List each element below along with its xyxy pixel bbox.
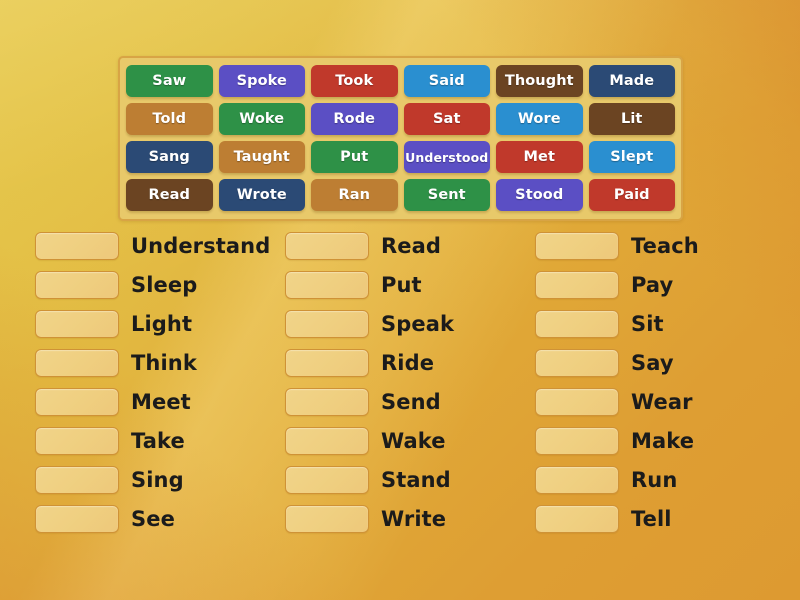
- drop-slot[interactable]: [35, 349, 119, 377]
- answer-label: Ride: [381, 351, 434, 375]
- word-tile[interactable]: Put: [311, 141, 398, 173]
- answer-label: Put: [381, 273, 422, 297]
- answer-row: See: [35, 499, 250, 538]
- drop-slot[interactable]: [285, 388, 369, 416]
- drop-slot[interactable]: [285, 505, 369, 533]
- word-tile[interactable]: Took: [311, 65, 398, 97]
- answer-label: Read: [381, 234, 441, 258]
- answer-row: Sing: [35, 460, 250, 499]
- answer-row: Send: [285, 382, 500, 421]
- drop-slot[interactable]: [535, 427, 619, 455]
- answer-label: Pay: [631, 273, 673, 297]
- drop-slot[interactable]: [535, 310, 619, 338]
- answer-row: Put: [285, 265, 500, 304]
- answer-label: Say: [631, 351, 674, 375]
- answer-row: Teach: [535, 226, 750, 265]
- drop-slot[interactable]: [285, 349, 369, 377]
- drop-slot[interactable]: [35, 427, 119, 455]
- drop-slot[interactable]: [285, 427, 369, 455]
- word-tile[interactable]: Made: [589, 65, 676, 97]
- word-tile[interactable]: Sent: [404, 179, 491, 211]
- word-tile[interactable]: Woke: [219, 103, 306, 135]
- word-tile[interactable]: Stood: [496, 179, 583, 211]
- drop-slot[interactable]: [285, 232, 369, 260]
- answer-row: Light: [35, 304, 250, 343]
- drop-slot[interactable]: [535, 349, 619, 377]
- word-tile[interactable]: Sat: [404, 103, 491, 135]
- drop-slot[interactable]: [535, 232, 619, 260]
- answer-label: Write: [381, 507, 446, 531]
- word-tile[interactable]: Lit: [589, 103, 676, 135]
- answer-row: Sleep: [35, 265, 250, 304]
- drop-slot[interactable]: [35, 271, 119, 299]
- answer-row: Say: [535, 343, 750, 382]
- answer-label: Run: [631, 468, 677, 492]
- drop-slot[interactable]: [35, 310, 119, 338]
- answer-row: Take: [35, 421, 250, 460]
- word-tile[interactable]: Paid: [589, 179, 676, 211]
- answer-label: Speak: [381, 312, 454, 336]
- answer-row: Speak: [285, 304, 500, 343]
- answer-label: Think: [131, 351, 197, 375]
- drop-slot[interactable]: [35, 466, 119, 494]
- word-tile[interactable]: Met: [496, 141, 583, 173]
- drop-slot[interactable]: [35, 388, 119, 416]
- drop-slot[interactable]: [535, 505, 619, 533]
- answer-label: Sit: [631, 312, 664, 336]
- word-tile[interactable]: Understood: [404, 141, 491, 173]
- word-tile[interactable]: Spoke: [219, 65, 306, 97]
- drop-slot[interactable]: [35, 505, 119, 533]
- word-tile[interactable]: Wrote: [219, 179, 306, 211]
- drop-slot[interactable]: [535, 466, 619, 494]
- answer-label: Wake: [381, 429, 446, 453]
- word-tile[interactable]: Rode: [311, 103, 398, 135]
- answer-label: Teach: [631, 234, 699, 258]
- answer-row: Tell: [535, 499, 750, 538]
- answer-label: Send: [381, 390, 441, 414]
- answer-row: Wear: [535, 382, 750, 421]
- answer-label: Sing: [131, 468, 184, 492]
- answer-row: Write: [285, 499, 500, 538]
- drop-slot[interactable]: [285, 466, 369, 494]
- answer-row: Run: [535, 460, 750, 499]
- tile-row: ReadWroteRanSentStoodPaid: [126, 179, 675, 211]
- word-tile[interactable]: Slept: [589, 141, 676, 173]
- answer-label: Tell: [631, 507, 672, 531]
- answer-row: Wake: [285, 421, 500, 460]
- answer-label: See: [131, 507, 175, 531]
- answer-column: ReadPutSpeakRideSendWakeStandWrite: [250, 226, 500, 538]
- word-tile[interactable]: Read: [126, 179, 213, 211]
- answer-label: Wear: [631, 390, 693, 414]
- word-tile[interactable]: Told: [126, 103, 213, 135]
- drop-slot[interactable]: [285, 310, 369, 338]
- answer-row: Read: [285, 226, 500, 265]
- tile-row: SangTaughtPutUnderstoodMetSlept: [126, 141, 675, 173]
- drop-slot[interactable]: [535, 388, 619, 416]
- answer-label: Stand: [381, 468, 451, 492]
- word-tile[interactable]: Thought: [496, 65, 583, 97]
- answer-row: Meet: [35, 382, 250, 421]
- drop-slot[interactable]: [35, 232, 119, 260]
- answer-label: Take: [131, 429, 185, 453]
- answer-row: Understand: [35, 226, 250, 265]
- answer-label: Light: [131, 312, 192, 336]
- tile-row: SawSpokeTookSaidThoughtMade: [126, 65, 675, 97]
- answer-columns-area: UnderstandSleepLightThinkMeetTakeSingSee…: [0, 226, 800, 538]
- word-tile[interactable]: Said: [404, 65, 491, 97]
- tile-row: ToldWokeRodeSatWoreLit: [126, 103, 675, 135]
- answer-label: Meet: [131, 390, 191, 414]
- answer-column: TeachPaySitSayWearMakeRunTell: [500, 226, 750, 538]
- word-tile[interactable]: Ran: [311, 179, 398, 211]
- word-tile[interactable]: Saw: [126, 65, 213, 97]
- word-tile[interactable]: Taught: [219, 141, 306, 173]
- word-tile[interactable]: Sang: [126, 141, 213, 173]
- answer-row: Ride: [285, 343, 500, 382]
- drop-slot[interactable]: [535, 271, 619, 299]
- answer-row: Sit: [535, 304, 750, 343]
- answer-row: Make: [535, 421, 750, 460]
- drop-slot[interactable]: [285, 271, 369, 299]
- answer-row: Think: [35, 343, 250, 382]
- answer-row: Stand: [285, 460, 500, 499]
- answer-row: Pay: [535, 265, 750, 304]
- answer-column: UnderstandSleepLightThinkMeetTakeSingSee: [0, 226, 250, 538]
- word-tile-bank: SawSpokeTookSaidThoughtMadeToldWokeRodeS…: [118, 56, 683, 221]
- answer-label: Sleep: [131, 273, 197, 297]
- answer-label: Make: [631, 429, 694, 453]
- word-tile[interactable]: Wore: [496, 103, 583, 135]
